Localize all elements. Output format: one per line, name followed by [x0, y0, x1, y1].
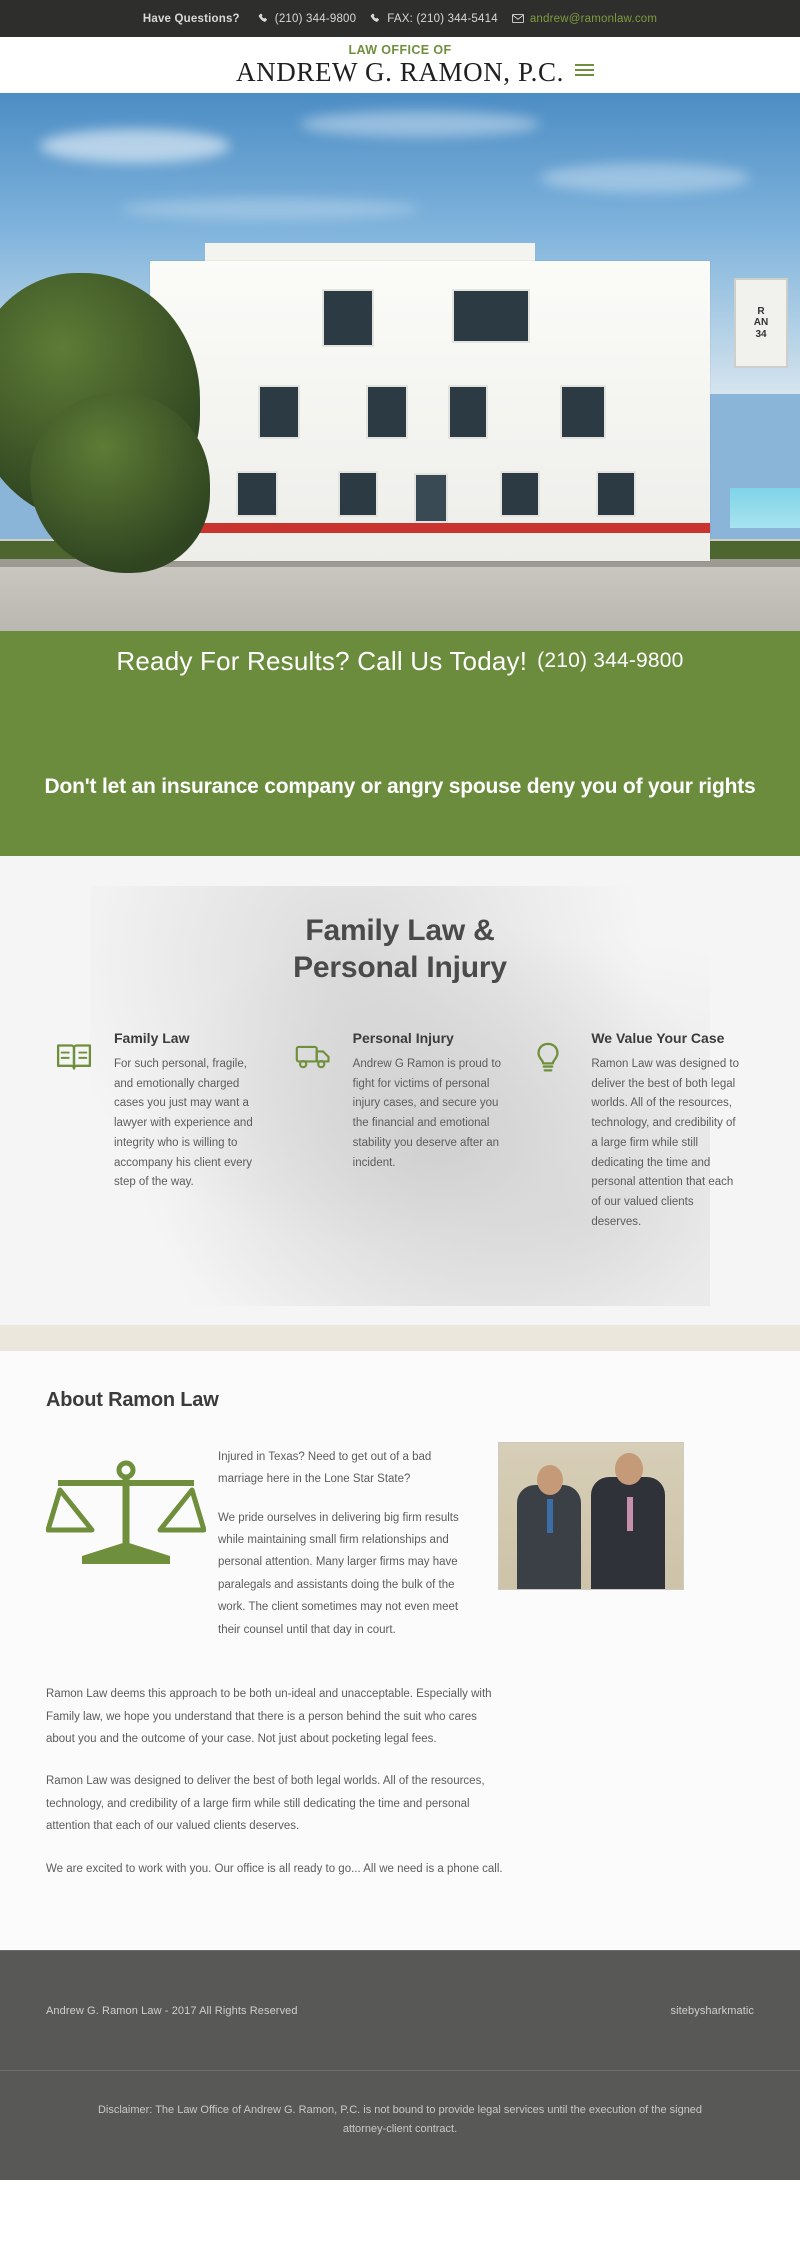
service-text: For such personal, fragile, and emotiona… — [114, 1055, 267, 1193]
sign-line-2: AN — [754, 317, 768, 329]
entrance-door — [414, 473, 448, 523]
necktie — [547, 1499, 553, 1533]
attorneys-photo — [498, 1442, 684, 1590]
about-paragraph-1: Ramon Law deems this approach to be both… — [46, 1683, 508, 1750]
hamburger-bar — [575, 69, 594, 71]
attorney-head — [615, 1453, 643, 1485]
window — [236, 471, 278, 517]
footer-disclaimer-bar: Disclaimer: The Law Office of Andrew G. … — [0, 2070, 800, 2180]
phone-icon — [370, 13, 381, 24]
cloud — [300, 111, 540, 137]
about-top-row: Injured in Texas? Need to get out of a b… — [46, 1442, 754, 1657]
top-contact-bar: Have Questions? (210) 344-9800 FAX: (210… — [0, 0, 800, 37]
service-card-family-law: Family Law For such personal, fragile, a… — [56, 1030, 267, 1232]
top-phone-text: (210) 344-9800 — [275, 13, 356, 25]
red-stripe — [150, 523, 710, 533]
window — [452, 289, 530, 343]
about-paragraph-3: We are excited to work with you. Our off… — [46, 1858, 508, 1880]
service-text: Ramon Law was designed to deliver the be… — [591, 1055, 744, 1233]
service-heading: Family Law — [114, 1030, 267, 1048]
logo-firm-name: ANDREW G. RAMON, P.C. — [236, 59, 564, 86]
page-root: Have Questions? (210) 344-9800 FAX: (210… — [0, 0, 800, 2180]
beige-divider — [0, 1325, 800, 1351]
service-card-personal-injury: Personal Injury Andrew G Ramon is proud … — [295, 1030, 506, 1232]
attorney-head — [537, 1465, 563, 1495]
footer-copyright: Andrew G. Ramon Law - 2017 All Rights Re… — [46, 2005, 298, 2017]
tagline-band: Don't let an insurance company or angry … — [0, 691, 800, 856]
hamburger-bar — [575, 74, 594, 76]
services-section: Family Law & Personal Injury Family Law … — [0, 856, 800, 1325]
footer-credit-link[interactable]: sitebysharkmatic — [670, 2005, 754, 2017]
about-heading: About Ramon Law — [46, 1389, 754, 1412]
open-book-icon — [56, 1030, 100, 1072]
sign-line-3: 34 — [755, 329, 766, 341]
window — [258, 385, 300, 439]
lightbulb-icon — [533, 1030, 577, 1076]
top-email-text: andrew@ramonlaw.com — [530, 13, 657, 25]
delivery-truck-icon — [295, 1030, 339, 1070]
logo-pretitle: LAW OFFICE OF — [236, 44, 564, 57]
hamburger-menu-icon[interactable] — [575, 64, 594, 76]
site-header: LAW OFFICE OF ANDREW G. RAMON, P.C. — [0, 37, 800, 93]
service-card-we-value-your-case: We Value Your Case Ramon Law was designe… — [533, 1030, 744, 1232]
necktie — [627, 1497, 633, 1531]
envelope-icon — [512, 14, 524, 23]
about-paragraph-2: Ramon Law was designed to deliver the be… — [46, 1770, 508, 1837]
side-signage — [730, 488, 800, 528]
call-to-action-banner: Ready For Results? Call Us Today! (210) … — [0, 631, 800, 691]
cloud — [120, 198, 420, 220]
window — [448, 385, 488, 439]
logo-link[interactable]: LAW OFFICE OF ANDREW G. RAMON, P.C. — [236, 44, 564, 87]
services-title-line-1: Family Law & — [0, 912, 800, 949]
about-body-text: Ramon Law deems this approach to be both… — [46, 1683, 508, 1880]
window — [322, 289, 374, 347]
services-columns: Family Law For such personal, fragile, a… — [0, 1030, 800, 1232]
cta-headline: Ready For Results? Call Us Today! — [116, 646, 527, 677]
scales-of-justice-icon — [46, 1442, 218, 1574]
have-questions-label: Have Questions? — [143, 13, 240, 25]
service-text: Andrew G Ramon is proud to fight for vic… — [353, 1055, 506, 1174]
about-intro-paragraph-2: We pride ourselves in delivering big fir… — [218, 1507, 464, 1642]
service-heading: We Value Your Case — [591, 1030, 744, 1048]
phone-icon — [258, 13, 269, 24]
service-heading: Personal Injury — [353, 1030, 506, 1048]
top-email-link[interactable]: andrew@ramonlaw.com — [512, 13, 657, 25]
sign-line-1: R — [757, 306, 764, 318]
hamburger-bar — [575, 64, 594, 66]
footer-disclaimer-text: Disclaimer: The Law Office of Andrew G. … — [90, 2101, 710, 2140]
services-title-line-2: Personal Injury — [0, 949, 800, 986]
attorney-figure — [591, 1477, 665, 1589]
about-intro-text: Injured in Texas? Need to get out of a b… — [218, 1442, 464, 1657]
window — [560, 385, 606, 439]
hero-building-image: R AN 34 — [0, 93, 800, 631]
tagline-text: Don't let an insurance company or angry … — [45, 775, 756, 799]
window — [596, 471, 636, 517]
cloud — [540, 163, 750, 193]
window — [500, 471, 540, 517]
top-phone-link[interactable]: (210) 344-9800 — [258, 13, 356, 25]
window — [366, 385, 408, 439]
cta-phone-link[interactable]: (210) 344-9800 — [537, 649, 683, 673]
cloud — [40, 129, 230, 163]
window — [338, 471, 378, 517]
about-section: About Ramon Law Injured in Texas? Need t… — [0, 1351, 800, 1950]
street-sign: R AN 34 — [734, 278, 788, 368]
top-fax-text: FAX: (210) 344-5414 — [387, 13, 498, 25]
services-title: Family Law & Personal Injury — [0, 912, 800, 986]
site-footer: Andrew G. Ramon Law - 2017 All Rights Re… — [0, 1950, 800, 2070]
about-intro-paragraph-1: Injured in Texas? Need to get out of a b… — [218, 1446, 464, 1491]
top-fax-link[interactable]: FAX: (210) 344-5414 — [370, 13, 498, 25]
